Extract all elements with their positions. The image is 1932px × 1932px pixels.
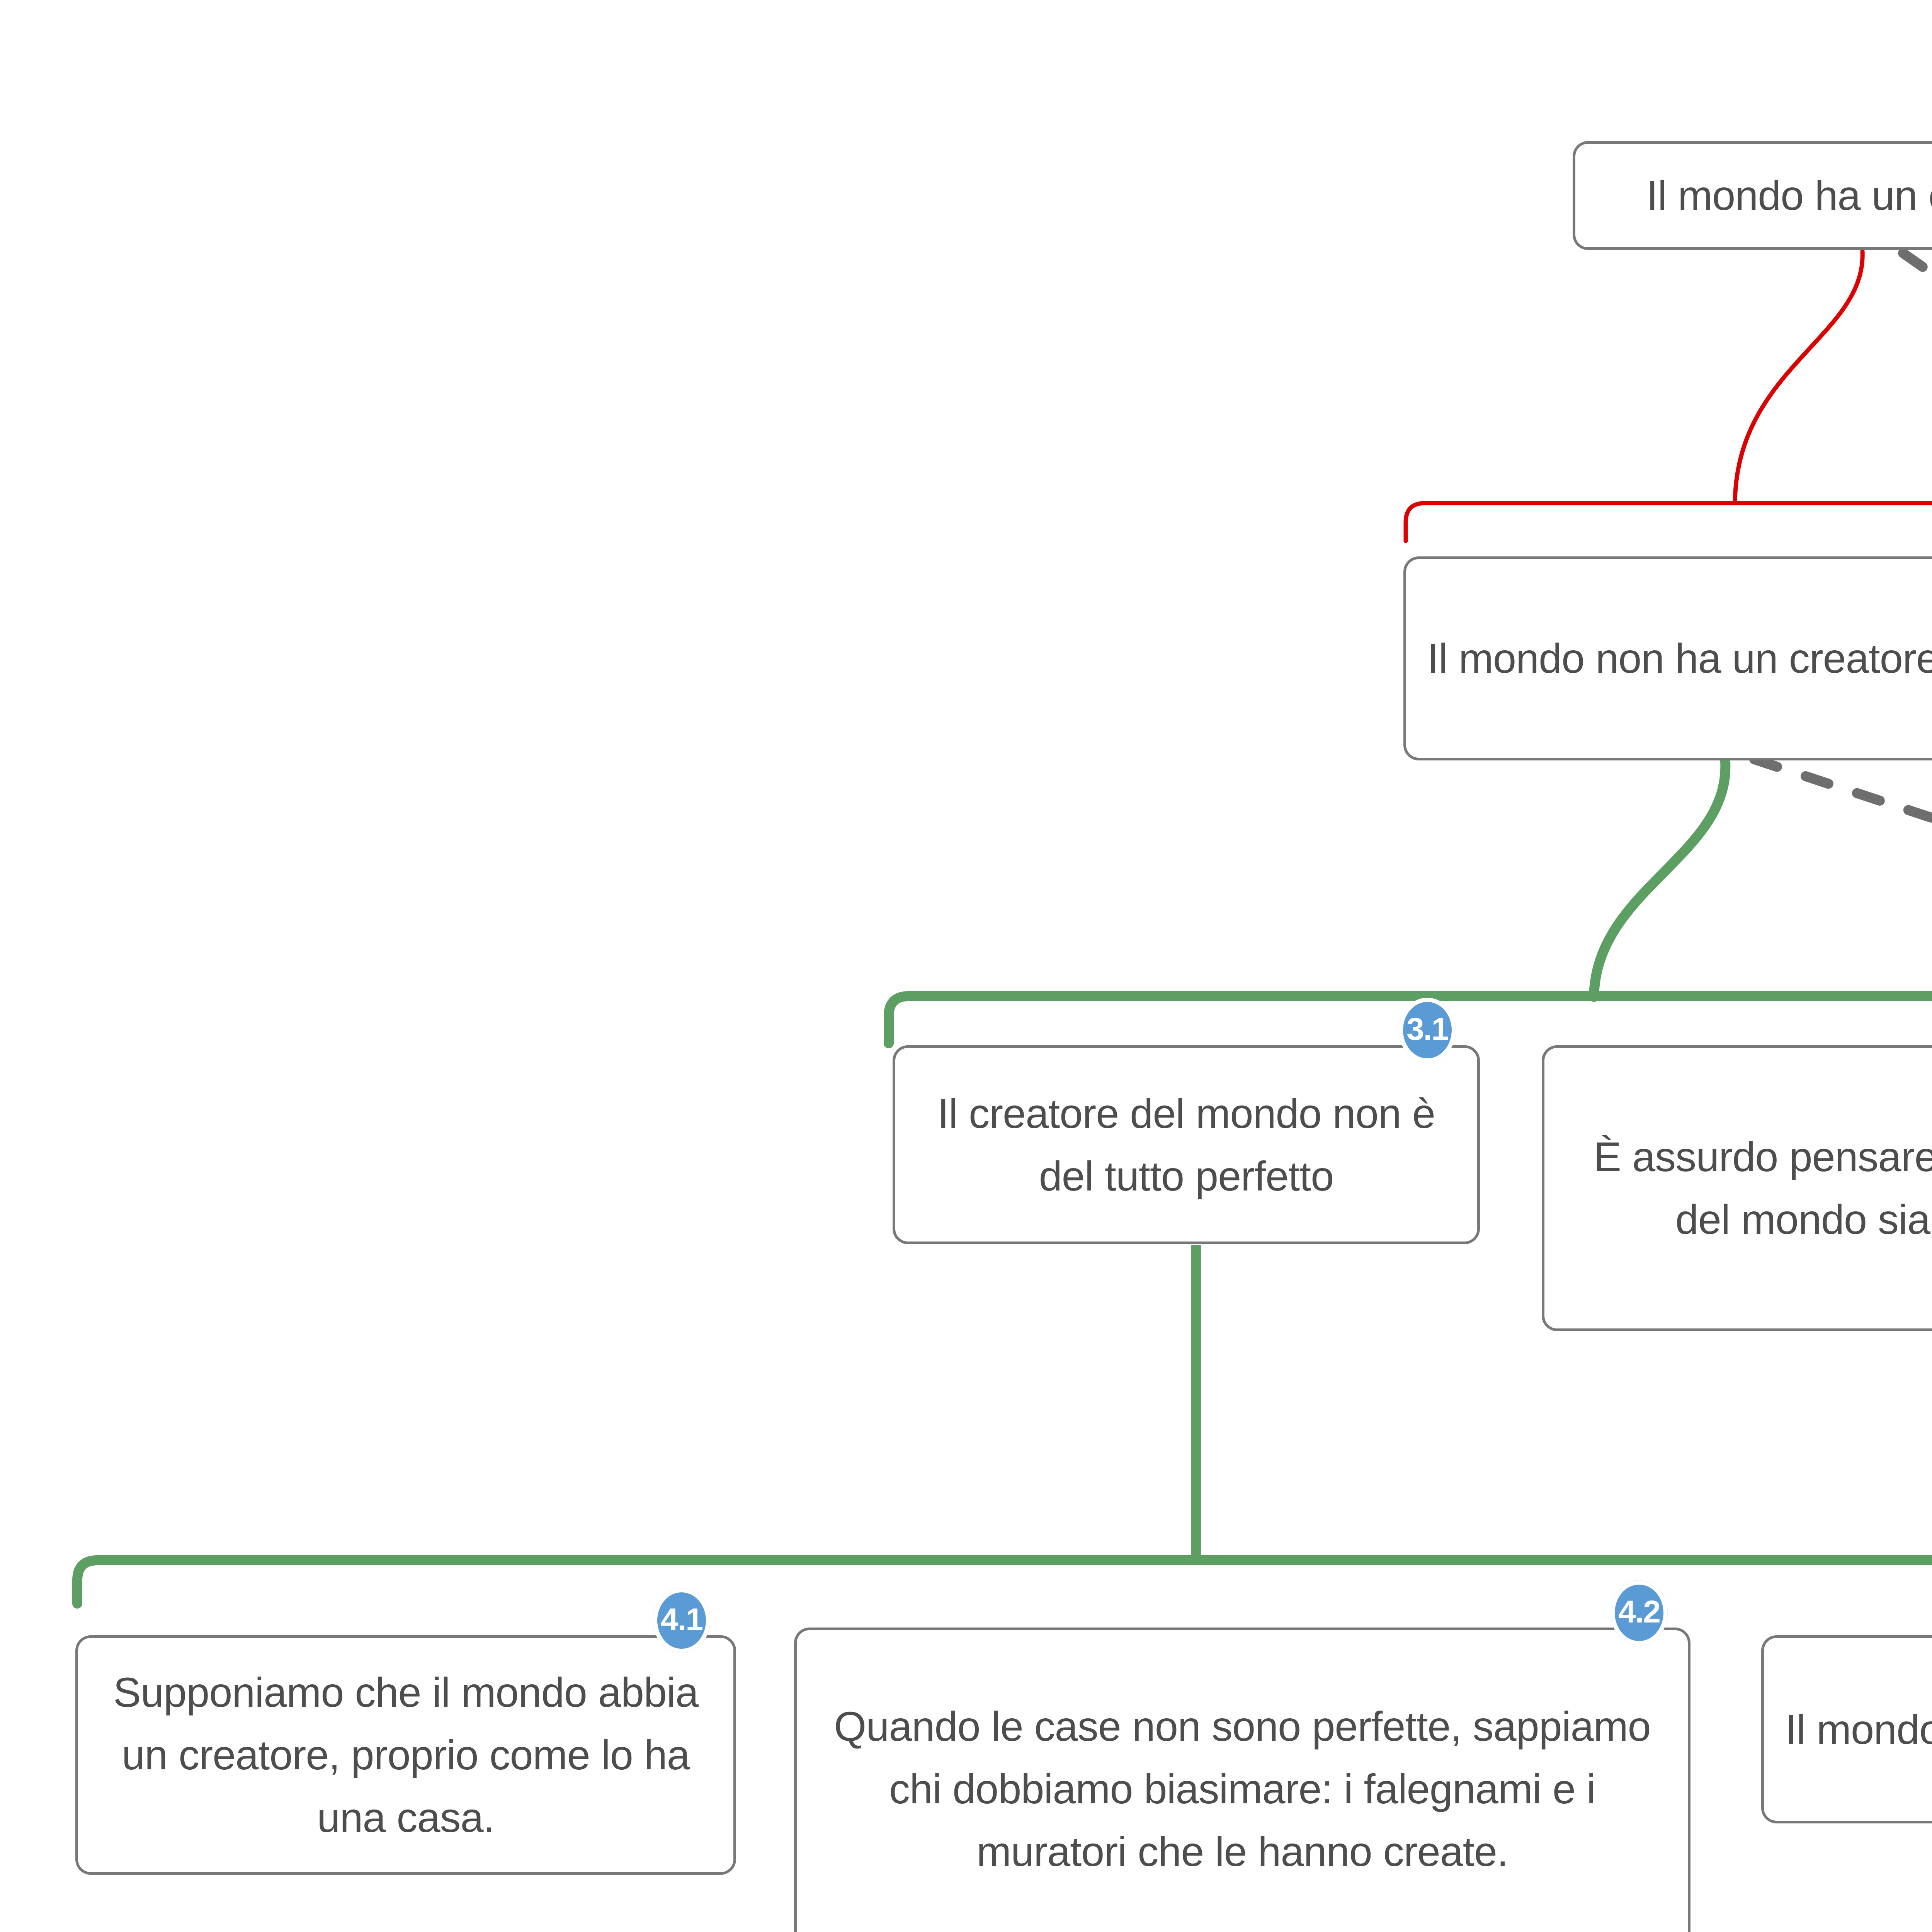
node-4.1[interactable]: Supponiamo che il mondo abbia un creator… xyxy=(75,1635,736,1875)
node-4.2-badge-label: 4.2 xyxy=(1618,1596,1660,1628)
node-4.2-badge: 4.2 xyxy=(1611,1580,1668,1645)
node-3.1-badge: 3.1 xyxy=(1399,998,1456,1063)
link-2.1-to-level3-stem xyxy=(1594,761,1725,997)
node-1.1[interactable]: Il mondo ha un creatore xyxy=(1573,141,1932,250)
node-4.2[interactable]: Quando le case non sono perfette, sappia… xyxy=(794,1628,1690,1932)
node-4.1-badge: 4.1 xyxy=(653,1588,710,1653)
node-4.3[interactable]: Il mondo non è perfetto xyxy=(1761,1635,1932,1823)
node-1.1-text: Il mondo ha un creatore xyxy=(1597,164,1932,227)
node-4.1-badge-label: 4.1 xyxy=(661,1604,702,1636)
node-3.2[interactable]: È assurdo pensare che il creatore del mo… xyxy=(1542,1045,1932,1331)
node-4.1-text: Supponiamo che il mondo abbia un creator… xyxy=(99,1661,712,1849)
node-3.1-text: Il creatore del mondo non è del tutto pe… xyxy=(917,1082,1456,1207)
link-1.1-to-antitesi xyxy=(1903,253,1932,498)
node-4.2-text: Quando le case non sono perfette, sappia… xyxy=(818,1695,1667,1883)
node-2.1[interactable]: Il mondo non ha un creatore xyxy=(1403,556,1932,760)
node-4.3-text: Il mondo non è perfetto xyxy=(1785,1698,1932,1761)
argument-map-canvas: Il mondo ha un creatore 1.1 Il mondo non… xyxy=(0,0,1932,1932)
link-2.1-bracket xyxy=(1406,503,1932,556)
node-3.1-badge-label: 3.1 xyxy=(1406,1014,1448,1045)
link-2.1-to-tesi xyxy=(1754,759,1932,987)
link-1.1-to-2.1-stem xyxy=(1735,251,1862,502)
node-2.1-text: Il mondo non ha un creatore xyxy=(1427,627,1932,690)
node-3.2-text: È assurdo pensare che il creatore del mo… xyxy=(1566,1126,1932,1251)
node-3.1[interactable]: Il creatore del mondo non è del tutto pe… xyxy=(893,1045,1480,1244)
